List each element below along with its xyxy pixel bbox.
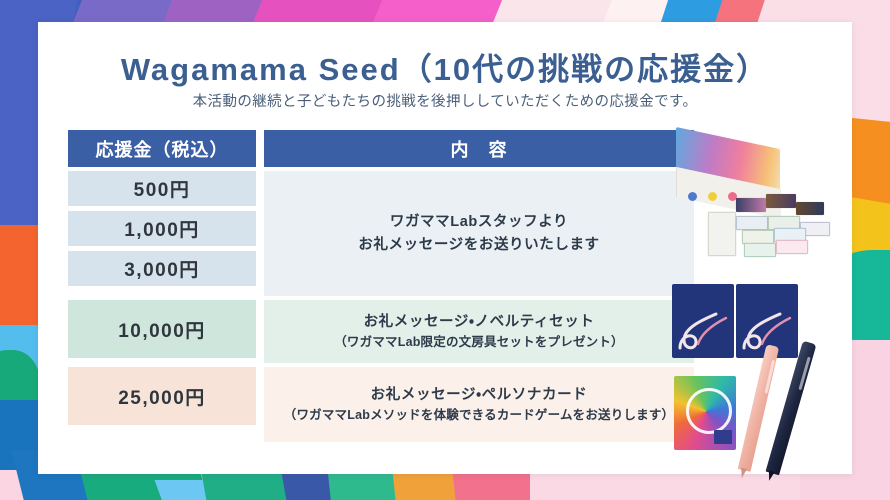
tier-description-line2: お礼メッセージをお送りいたします [358,234,599,256]
persona-card-game-box-image [656,126,840,278]
card-stack-1 [736,198,766,212]
game-card-7 [776,240,808,254]
tier-description-mint: お礼メッセージ・ノベルティセット （ワガママLab限定の文房具セットをプレゼント… [264,300,694,363]
tier-amount-1000: 1,000円 [68,211,256,246]
page-subtitle: 本活動の継続と子どもたちの挑戦を後押ししていただくための応援金です。 [38,90,852,111]
tier-description-line2: （ワガママLab限定の文房具セットをプレゼント） [334,333,624,352]
tier-amount-3000: 3,000円 [68,251,256,286]
tier-description-blue: ワガママLabスタッフより お礼メッセージをお送りいたします [264,171,694,296]
amount-group-blue: 500円 1,000円 3,000円 [68,171,256,296]
column-header-amount: 応援金（税込） [68,130,256,167]
table-header-row: 応援金（税込） 内 容 [68,130,694,167]
tier-description-line1: お礼メッセージ・ノベルティセット [364,311,595,333]
rainbow-card-and-pens-image [656,370,840,474]
pen-clip [798,357,810,391]
content-card: Wagamama Seed（10代の挑戦の応援金） 本活動の継続と子どもたちの挑… [38,22,852,474]
folder-left [672,284,734,358]
swirl-logo-icon [676,310,730,354]
table-row: 25,000円 お礼メッセージ・ペルソナカード （ワガママLabメソッドを体験で… [68,367,694,442]
table-row: 500円 1,000円 3,000円 ワガママLabスタッフより お礼メッセージ… [68,171,694,296]
tier-amount-25000: 25,000円 [68,367,256,425]
product-photo-column [656,126,840,474]
card-stack-2 [766,194,796,208]
tier-description-line1: ワガママLabスタッフより [390,211,568,233]
amount-group-peach: 25,000円 [68,367,256,442]
table-row: 10,000円 お礼メッセージ・ノベルティセット （ワガママLab限定の文房具セ… [68,300,694,363]
instruction-sheet [708,212,736,256]
tier-amount-10000: 10,000円 [68,300,256,358]
card-stack-3 [796,202,824,215]
column-header-content: 内 容 [264,130,694,167]
pen-clip [765,360,776,394]
rainbow-card-ring [686,388,732,434]
rainbow-card-tag [714,430,732,444]
tier-description-line2: （ワガママLabメソッドを体験できるカードゲームをお送りします） [284,406,675,425]
tier-amount-500: 500円 [68,171,256,206]
page-title: Wagamama Seed（10代の挑戦の応援金） [38,44,852,89]
box-dot-yellow [708,192,717,201]
tier-description-line1: お礼メッセージ・ペルソナカード [371,384,588,406]
tier-description-peach: お礼メッセージ・ペルソナカード （ワガママLabメソッドを体験できるカードゲーム… [264,367,694,442]
game-card-6 [744,243,776,257]
slide-canvas: Wagamama Seed（10代の挑戦の応援金） 本活動の継続と子どもたちの挑… [0,0,890,500]
box-dot-blue [688,192,697,201]
game-card-4 [742,230,774,244]
support-tier-table: 応援金（税込） 内 容 500円 1,000円 3,000円 ワガママLabスタ… [68,130,694,446]
game-card-1 [736,216,768,230]
amount-group-mint: 10,000円 [68,300,256,363]
